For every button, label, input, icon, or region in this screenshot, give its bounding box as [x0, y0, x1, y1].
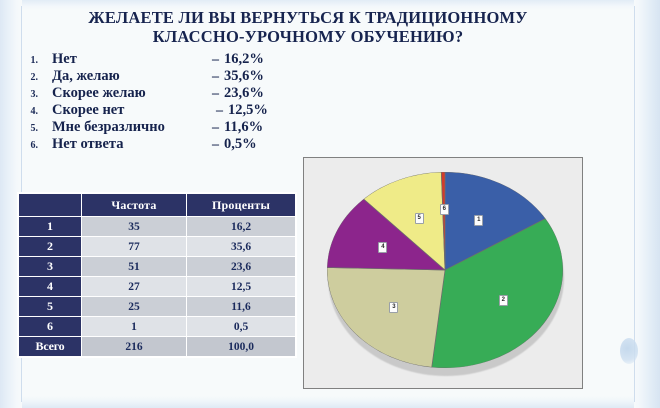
list-item-label: Скорее желаю [52, 85, 212, 102]
table-row: 5 25 11,6 [19, 297, 296, 317]
cell-percent: 12,5 [187, 277, 296, 297]
pie-slice-label-1: 1 [474, 215, 483, 226]
frequency-table: Частота Проценты 1 35 16,2 2 77 35,6 3 5… [18, 193, 296, 357]
total-label: Всего [19, 337, 82, 357]
pie-slice-3 [327, 268, 445, 368]
list-item-value: 23,6% [224, 85, 264, 102]
list-item-number: 5. [8, 123, 52, 134]
row-index: 2 [19, 237, 82, 257]
list-item: 6. Нет ответа – 0,5% [8, 136, 368, 153]
list-item-dash: – [212, 86, 224, 102]
list-item-value: 11,6% [224, 119, 263, 136]
pie-slice-label-5: 5 [415, 213, 424, 224]
decorative-blob [620, 338, 638, 364]
list-item-number: 2. [8, 72, 52, 83]
total-cell-frequency: 216 [82, 337, 187, 357]
list-item: 1. Нет – 16,2% [8, 51, 368, 68]
row-index: 6 [19, 317, 82, 337]
pie-slice-label-2: 2 [499, 295, 508, 306]
pie-slice-label-3: 3 [389, 302, 398, 313]
list-item-label: Нет ответа [52, 136, 212, 153]
table-row: 4 27 12,5 [19, 277, 296, 297]
list-item-number: 1. [8, 55, 52, 66]
cell-percent: 35,6 [187, 237, 296, 257]
page-border-bottom [0, 396, 660, 408]
cell-percent: 23,6 [187, 257, 296, 277]
list-item-number: 3. [8, 89, 52, 100]
pie-chart: 123456 [319, 164, 571, 379]
table-row: 1 35 16,2 [19, 217, 296, 237]
list-item-value: 35,6% [224, 68, 264, 85]
column-header-index [19, 194, 82, 217]
table-header-row: Частота Проценты [19, 194, 296, 217]
page-border-right [634, 0, 660, 408]
pie-slice-label-4: 4 [378, 242, 387, 253]
table-header: Частота Проценты [19, 194, 296, 217]
table-body: 1 35 16,2 2 77 35,6 3 51 23,6 4 27 12,5 … [19, 217, 296, 357]
cell-frequency: 25 [82, 297, 187, 317]
list-item: 3. Скорее желаю – 23,6% [8, 85, 368, 102]
list-item-dash: – [212, 103, 228, 119]
cell-percent: 11,6 [187, 297, 296, 317]
pie-chart-slices [327, 172, 563, 368]
list-item-dash: – [212, 52, 224, 68]
list-item-number: 6. [8, 140, 52, 151]
pie-slice-label-6: 6 [440, 204, 449, 215]
page-title-line-2: КЛАССНО-УРОЧНОМУ ОБУЧЕНИЮ? [24, 27, 592, 46]
list-item-dash: – [212, 120, 224, 136]
pie-svg [327, 172, 563, 368]
list-item-label: Да, желаю [52, 68, 212, 85]
table-total-row: Всего 216 100,0 [19, 337, 296, 357]
slide-canvas: ЖЕЛАЕТЕ ЛИ ВЫ ВЕРНУТЬСЯ К ТРАДИЦИОННОМУ … [0, 0, 660, 408]
list-item-value: 0,5% [224, 136, 257, 153]
pie-chart-panel: 123456 [303, 157, 583, 389]
list-item-dash: – [212, 137, 224, 153]
list-item-label: Нет [52, 51, 212, 68]
cell-frequency: 1 [82, 317, 187, 337]
list-item-number: 4. [8, 106, 52, 117]
list-item-label: Скорее нет [52, 102, 212, 119]
row-index: 3 [19, 257, 82, 277]
row-index: 4 [19, 277, 82, 297]
pie-slice-group [327, 172, 563, 368]
table-row: 6 1 0,5 [19, 317, 296, 337]
table-row: 3 51 23,6 [19, 257, 296, 277]
column-header-percent: Проценты [187, 194, 296, 217]
column-header-frequency: Частота [82, 194, 187, 217]
list-item: 2. Да, желаю – 35,6% [8, 68, 368, 85]
row-index: 1 [19, 217, 82, 237]
cell-frequency: 77 [82, 237, 187, 257]
list-item-dash: – [212, 69, 224, 85]
answer-list: 1. Нет – 16,2% 2. Да, желаю – 35,6% 3. С… [8, 51, 368, 153]
cell-percent: 16,2 [187, 217, 296, 237]
list-item-label: Мне безразлично [52, 119, 212, 136]
cell-frequency: 27 [82, 277, 187, 297]
list-item: 4. Скорее нет – 12,5% [8, 102, 368, 119]
page-title-line-1: ЖЕЛАЕТЕ ЛИ ВЫ ВЕРНУТЬСЯ К ТРАДИЦИОННОМУ [24, 8, 592, 27]
cell-percent: 0,5 [187, 317, 296, 337]
table-row: 2 77 35,6 [19, 237, 296, 257]
list-item-value: 12,5% [228, 102, 268, 119]
page-title: ЖЕЛАЕТЕ ЛИ ВЫ ВЕРНУТЬСЯ К ТРАДИЦИОННОМУ … [24, 8, 592, 46]
row-index: 5 [19, 297, 82, 317]
cell-frequency: 35 [82, 217, 187, 237]
cell-frequency: 51 [82, 257, 187, 277]
list-item: 5. Мне безразлично – 11,6% [8, 119, 368, 136]
list-item-value: 16,2% [224, 51, 264, 68]
total-cell-percent: 100,0 [187, 337, 296, 357]
